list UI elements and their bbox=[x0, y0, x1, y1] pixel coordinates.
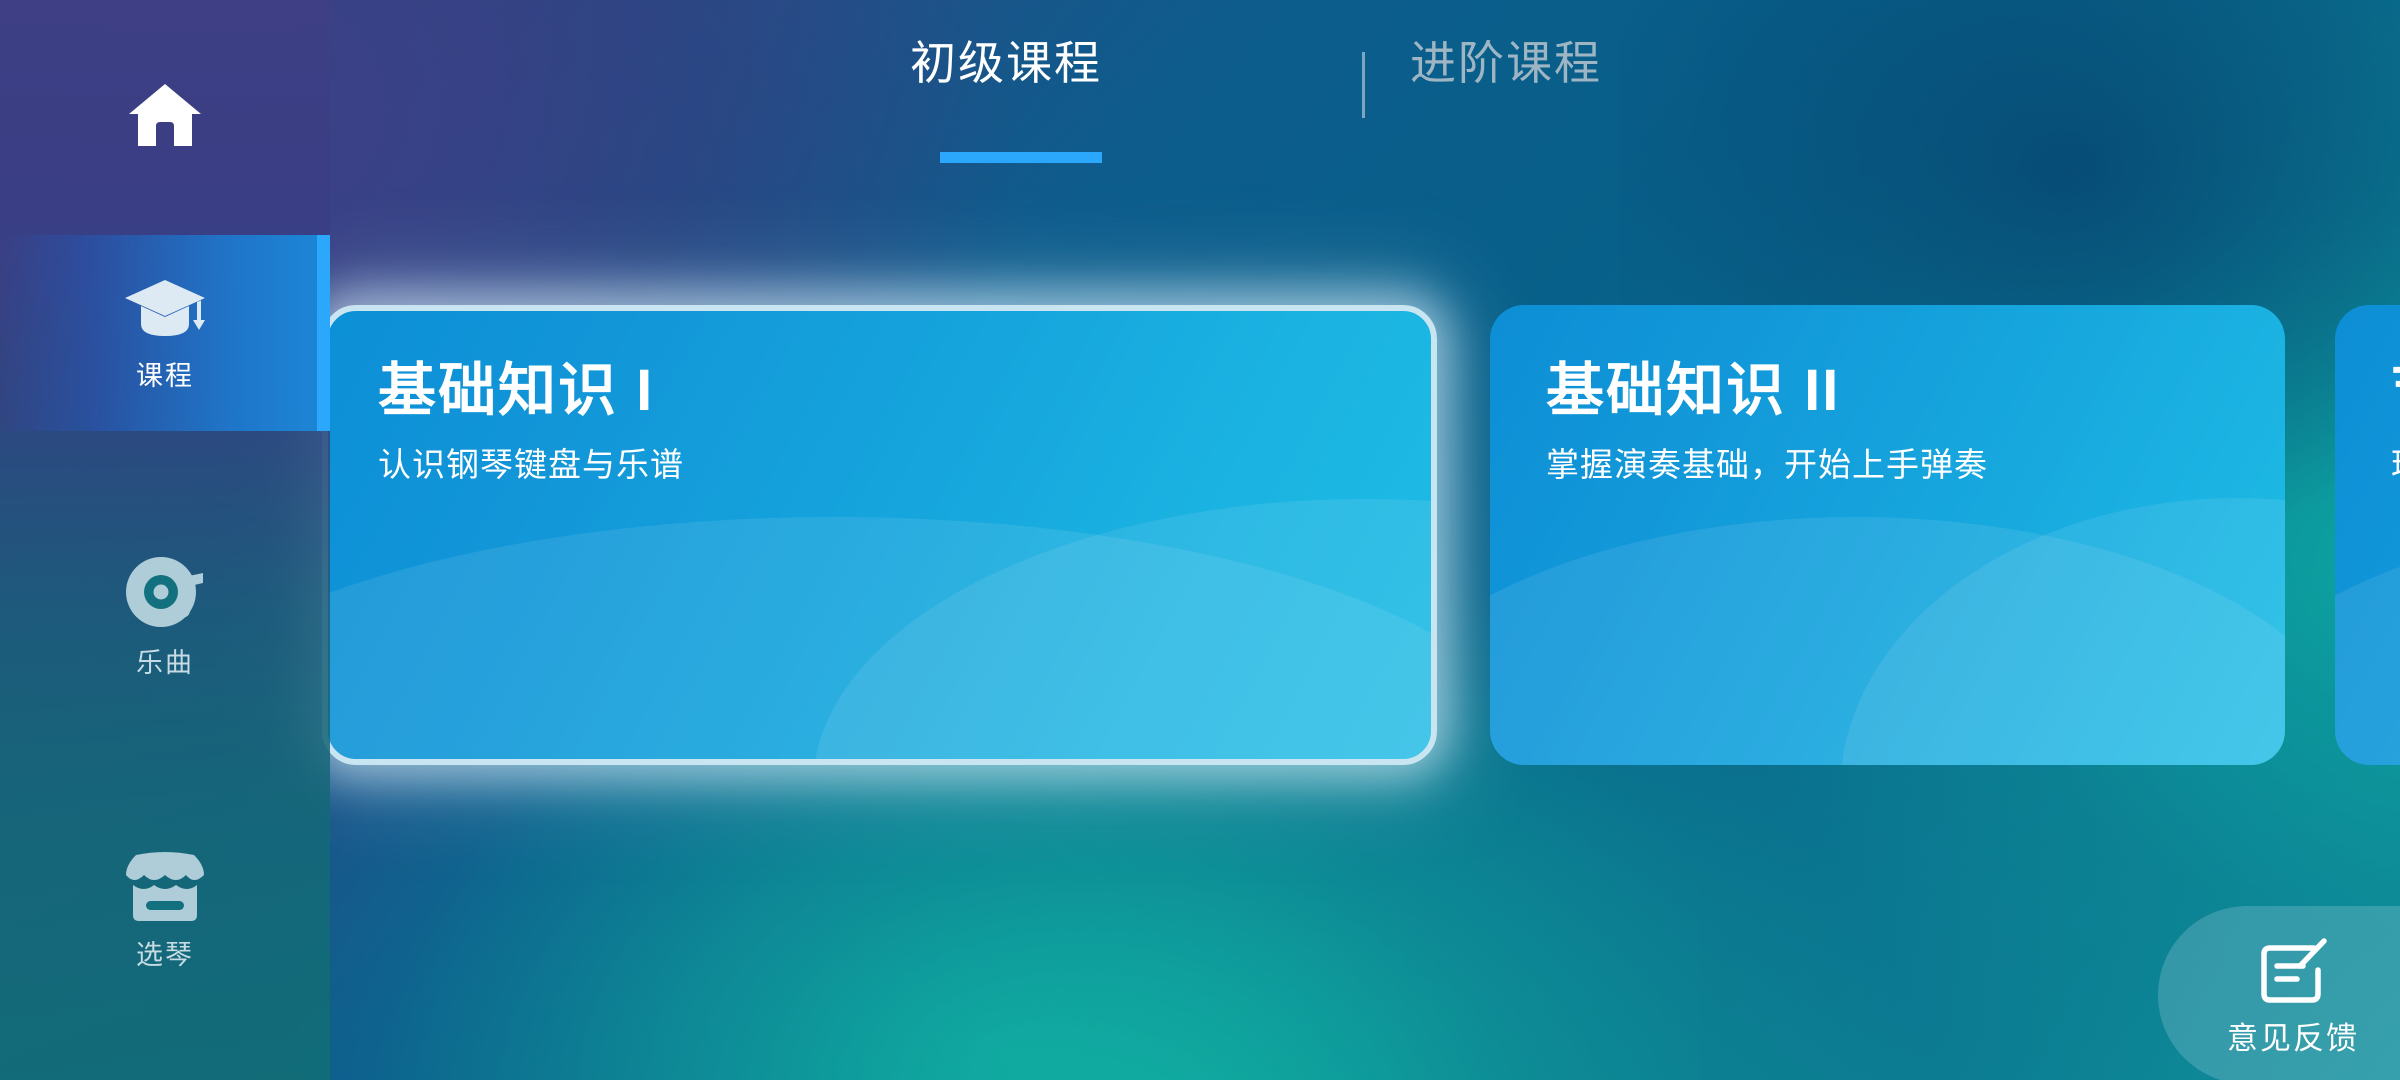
course-card-subtitle: 认识钢琴键盘与乐谱 bbox=[378, 442, 1431, 489]
course-card-basics-1[interactable]: 基础知识 I 认识钢琴键盘与乐谱 bbox=[322, 305, 1437, 765]
tab-beginner-courses[interactable]: 初级课程 bbox=[910, 36, 1102, 91]
app-root: 课程 乐曲 bbox=[0, 0, 2400, 1080]
sidebar-active-accent-bar bbox=[317, 235, 330, 431]
feedback-label: 意见反馈 bbox=[2227, 1023, 2359, 1054]
course-card-list: 基础知识 I 认识钢琴键盘与乐谱 基础知识 II 掌握演奏基础，开始上手弹奏 节… bbox=[330, 180, 2400, 1080]
sidebar-item-label-store: 选琴 bbox=[136, 942, 194, 969]
graduation-cap-icon bbox=[123, 276, 207, 349]
card-wave-right bbox=[1840, 498, 2285, 765]
course-card-title: 基础知识 I bbox=[378, 359, 1431, 424]
edit-note-icon bbox=[2256, 936, 2330, 1011]
sidebar-item-music[interactable]: 乐曲 bbox=[0, 500, 330, 730]
card-wave-left bbox=[1490, 517, 2285, 765]
sidebar-item-store[interactable]: 选琴 bbox=[0, 795, 330, 1025]
sidebar-item-label-music: 乐曲 bbox=[136, 650, 194, 677]
course-card-title: 基础知识 II bbox=[1546, 359, 2285, 424]
tab-divider bbox=[1362, 52, 1365, 118]
disc-music-note-icon bbox=[124, 553, 206, 636]
feedback-button[interactable]: 意见反馈 bbox=[2158, 906, 2400, 1080]
sidebar-item-label-course: 课程 bbox=[136, 363, 194, 390]
course-level-tabs: 初级课程 进阶课程 bbox=[330, 0, 2400, 180]
card-wave-left bbox=[2335, 517, 2400, 765]
storefront-icon bbox=[124, 851, 206, 928]
tab-active-underline bbox=[940, 152, 1102, 163]
card-wave-right bbox=[813, 499, 1431, 759]
course-card-title: 节奏 I bbox=[2391, 359, 2400, 424]
sidebar-item-course[interactable]: 课程 bbox=[0, 235, 330, 431]
card-wave-left bbox=[328, 517, 1431, 759]
course-card-rhythm-1[interactable]: 节奏 I 理解音乐的节奏（1）符时值关系 bbox=[2335, 305, 2400, 765]
course-card-basics-2[interactable]: 基础知识 II 掌握演奏基础，开始上手弹奏 bbox=[1490, 305, 2285, 765]
course-card-subtitle: 掌握演奏基础，开始上手弹奏 bbox=[1546, 442, 2285, 489]
home-icon bbox=[127, 80, 203, 155]
sidebar-item-home[interactable] bbox=[0, 0, 330, 235]
sidebar: 课程 乐曲 bbox=[0, 0, 330, 1080]
course-card-subtitle: 理解音乐的节奏（1）符时值关系 bbox=[2391, 442, 2400, 489]
tab-advanced-courses[interactable]: 进阶课程 bbox=[1410, 36, 1602, 91]
